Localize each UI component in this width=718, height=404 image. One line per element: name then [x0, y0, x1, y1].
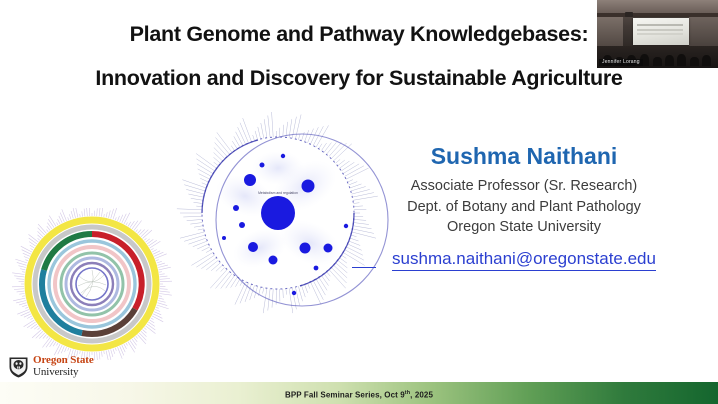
osu-logo-line-2: University [33, 367, 94, 378]
osu-wordmark: Oregon State University [33, 355, 94, 378]
title-line-2: Innovation and Discovery for Sustainable… [0, 68, 718, 90]
circos-ring-periwinkle [66, 258, 118, 310]
circos-ring-gray [35, 227, 149, 341]
osu-logo-line-1: Oregon State [33, 355, 94, 366]
speaker-department: Dept. of Botany and Plant Pathology [352, 197, 696, 218]
webcam-projector [625, 12, 633, 17]
beaver-crest-icon [8, 356, 29, 378]
webcam-ceiling [597, 0, 718, 13]
circos-ring-blue [76, 268, 108, 300]
footer-bar: BPP Fall Seminar Series, Oct 9th, 2025 [0, 382, 718, 404]
speaker-email-link[interactable]: sushma.naithani@oregonstate.edu [392, 249, 656, 271]
speaker-institution: Oregon State University [352, 217, 696, 238]
footer-text-prefix: BPP Fall Seminar Series, Oct 9 [285, 391, 405, 400]
circos-center-links [78, 270, 106, 297]
network-hub-node [261, 196, 295, 230]
webcam-projection-screen [633, 18, 689, 45]
circos-ring-purple [71, 263, 113, 305]
speaker-title: Associate Professor (Sr. Research) [352, 176, 696, 197]
webcam-video-inset[interactable]: Jennifer Lorang [596, 0, 718, 69]
webcam-participant-label: Jennifer Lorang [599, 59, 643, 66]
circos-ring-yellow [28, 220, 156, 348]
circos-svg [12, 208, 172, 360]
network-center-label: Metabolism and regulation [258, 191, 298, 195]
presentation-slide: Metabolism and regulation [0, 0, 718, 404]
footer-text: BPP Fall Seminar Series, Oct 9th, 2025 [0, 382, 718, 404]
email-underline-lead [352, 267, 376, 268]
speaker-name: Sushma Naithani [352, 144, 696, 169]
speaker-info-block: Sushma Naithani Associate Professor (Sr.… [352, 144, 696, 271]
oregon-state-logo: Oregon State University [8, 355, 94, 378]
footer-text-suffix: , 2025 [410, 391, 433, 400]
genome-circos-diagram [12, 208, 172, 360]
